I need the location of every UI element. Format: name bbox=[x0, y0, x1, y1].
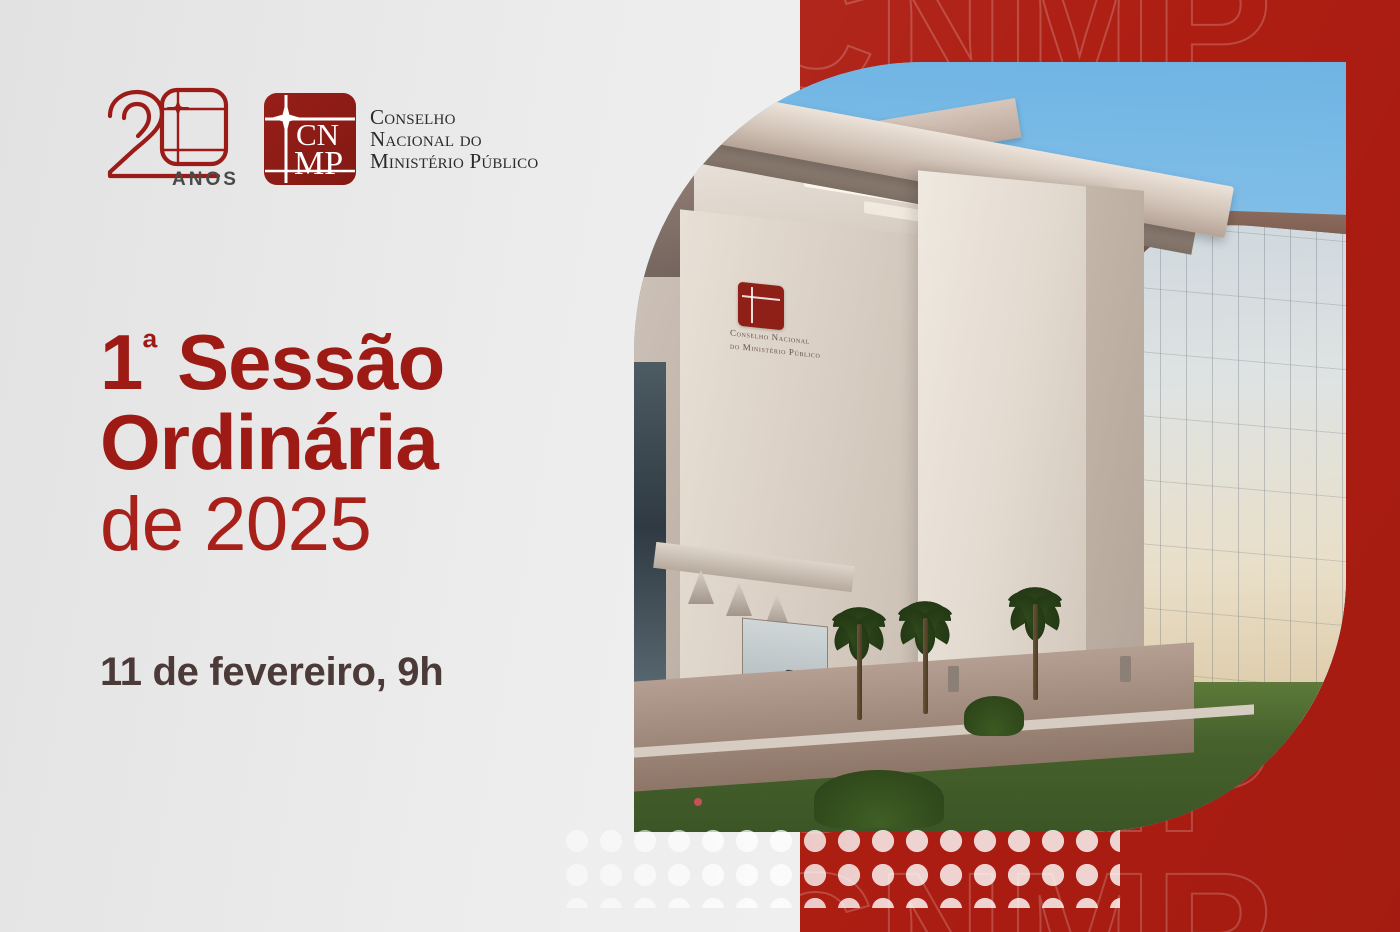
event-title: 1ª Sessão Ordinária de 2025 bbox=[100, 308, 660, 568]
bollard bbox=[1120, 656, 1131, 682]
title-line-3: de 2025 bbox=[100, 482, 660, 568]
poster-canvas: CNMP CNMP CNMP CNMP CNMP CNMP Conselho N… bbox=[0, 0, 1400, 932]
cnmp-institutional-logo: CN MP Conselho Nacional do Ministério Pú… bbox=[264, 93, 538, 185]
flower bbox=[694, 798, 702, 806]
title-line-1: 1ª Sessão bbox=[100, 308, 660, 402]
cnmp-headquarters-building-photo: Conselho Nacional do Ministério Público bbox=[634, 62, 1346, 832]
anniversary-20-anos-icon: ANOS bbox=[100, 84, 240, 189]
title-line-2: Ordinária bbox=[100, 402, 660, 482]
cnmp-monogram-mp: MP bbox=[294, 145, 343, 182]
cnmp-name-line-1: Conselho bbox=[370, 106, 538, 128]
palm-tree bbox=[1006, 570, 1064, 710]
shrub bbox=[814, 770, 944, 828]
event-date: 11 de fevereiro, 9h bbox=[100, 650, 443, 695]
cnmp-name-line-2: Nacional do bbox=[370, 128, 538, 150]
decorative-dot-grid bbox=[560, 824, 1120, 908]
shrub bbox=[964, 696, 1024, 736]
cnmp-20-years-logo: ANOS bbox=[100, 84, 240, 194]
anniversary-anos-label: ANOS bbox=[172, 169, 239, 189]
cnmp-name-line-3: Ministério Público bbox=[370, 150, 538, 172]
palm-tree bbox=[830, 590, 888, 720]
palm-tree bbox=[896, 584, 954, 714]
facade-cnmp-logo-sign bbox=[738, 282, 784, 331]
title-ordinal-suffix: ª bbox=[142, 325, 156, 371]
title-ordinal-number: 1 bbox=[100, 318, 142, 406]
logo-bar: ANOS CN MP Conselho Na bbox=[100, 84, 538, 194]
cnmp-logo-icon: CN MP bbox=[264, 93, 356, 185]
title-line-1-rest: Sessão bbox=[156, 318, 444, 406]
cnmp-wordmark: Conselho Nacional do Ministério Público bbox=[370, 106, 538, 172]
